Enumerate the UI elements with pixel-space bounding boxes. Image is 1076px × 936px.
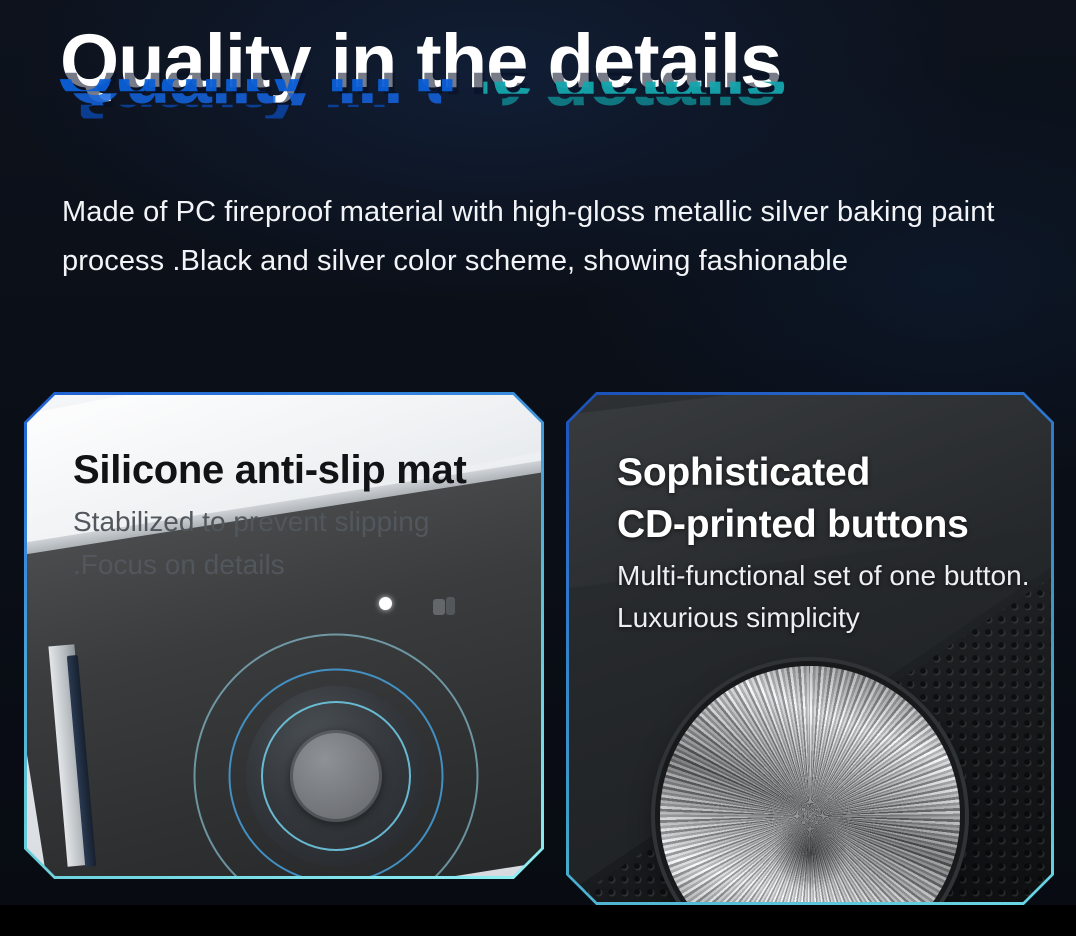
card-title-line-2: CD-printed buttons [617,499,1037,551]
product-detail-page: Quality in the details Quality in the de… [0,0,1076,936]
card-body: Silicone anti-slip mat Stabilized to pre… [27,395,541,876]
card-title-line-1: Sophisticated [617,447,1037,499]
feature-card-silicone-mat: Silicone anti-slip mat Stabilized to pre… [24,392,544,879]
card-title-silicone-mat: Silicone anti-slip mat [73,445,513,496]
anti-slip-ripple-rings [171,611,501,876]
card-subtitle-cd-buttons: Multi-functional set of one button. Luxu… [617,555,1037,639]
feature-card-cd-buttons: Sophisticated CD-printed buttons Multi-f… [566,392,1054,905]
page-title: Quality in the details Quality in the de… [60,24,1020,100]
card-text-silicone-mat: Silicone anti-slip mat Stabilized to pre… [73,445,513,586]
card-text-cd-buttons: Sophisticated CD-printed buttons Multi-f… [617,447,1037,639]
card-body: Sophisticated CD-printed buttons Multi-f… [569,395,1051,902]
title-text: Quality in the details [60,19,781,104]
led-indicator-dot [379,597,392,610]
headline-block: Quality in the details Quality in the de… [60,24,1020,142]
bottom-black-bar [0,905,1076,936]
page-description: Made of PC fireproof material with high-… [62,188,1037,286]
silicone-pad-hub [290,730,382,822]
card-subtitle-silicone-mat: Stabilized to prevent slipping .Focus on… [73,500,513,586]
